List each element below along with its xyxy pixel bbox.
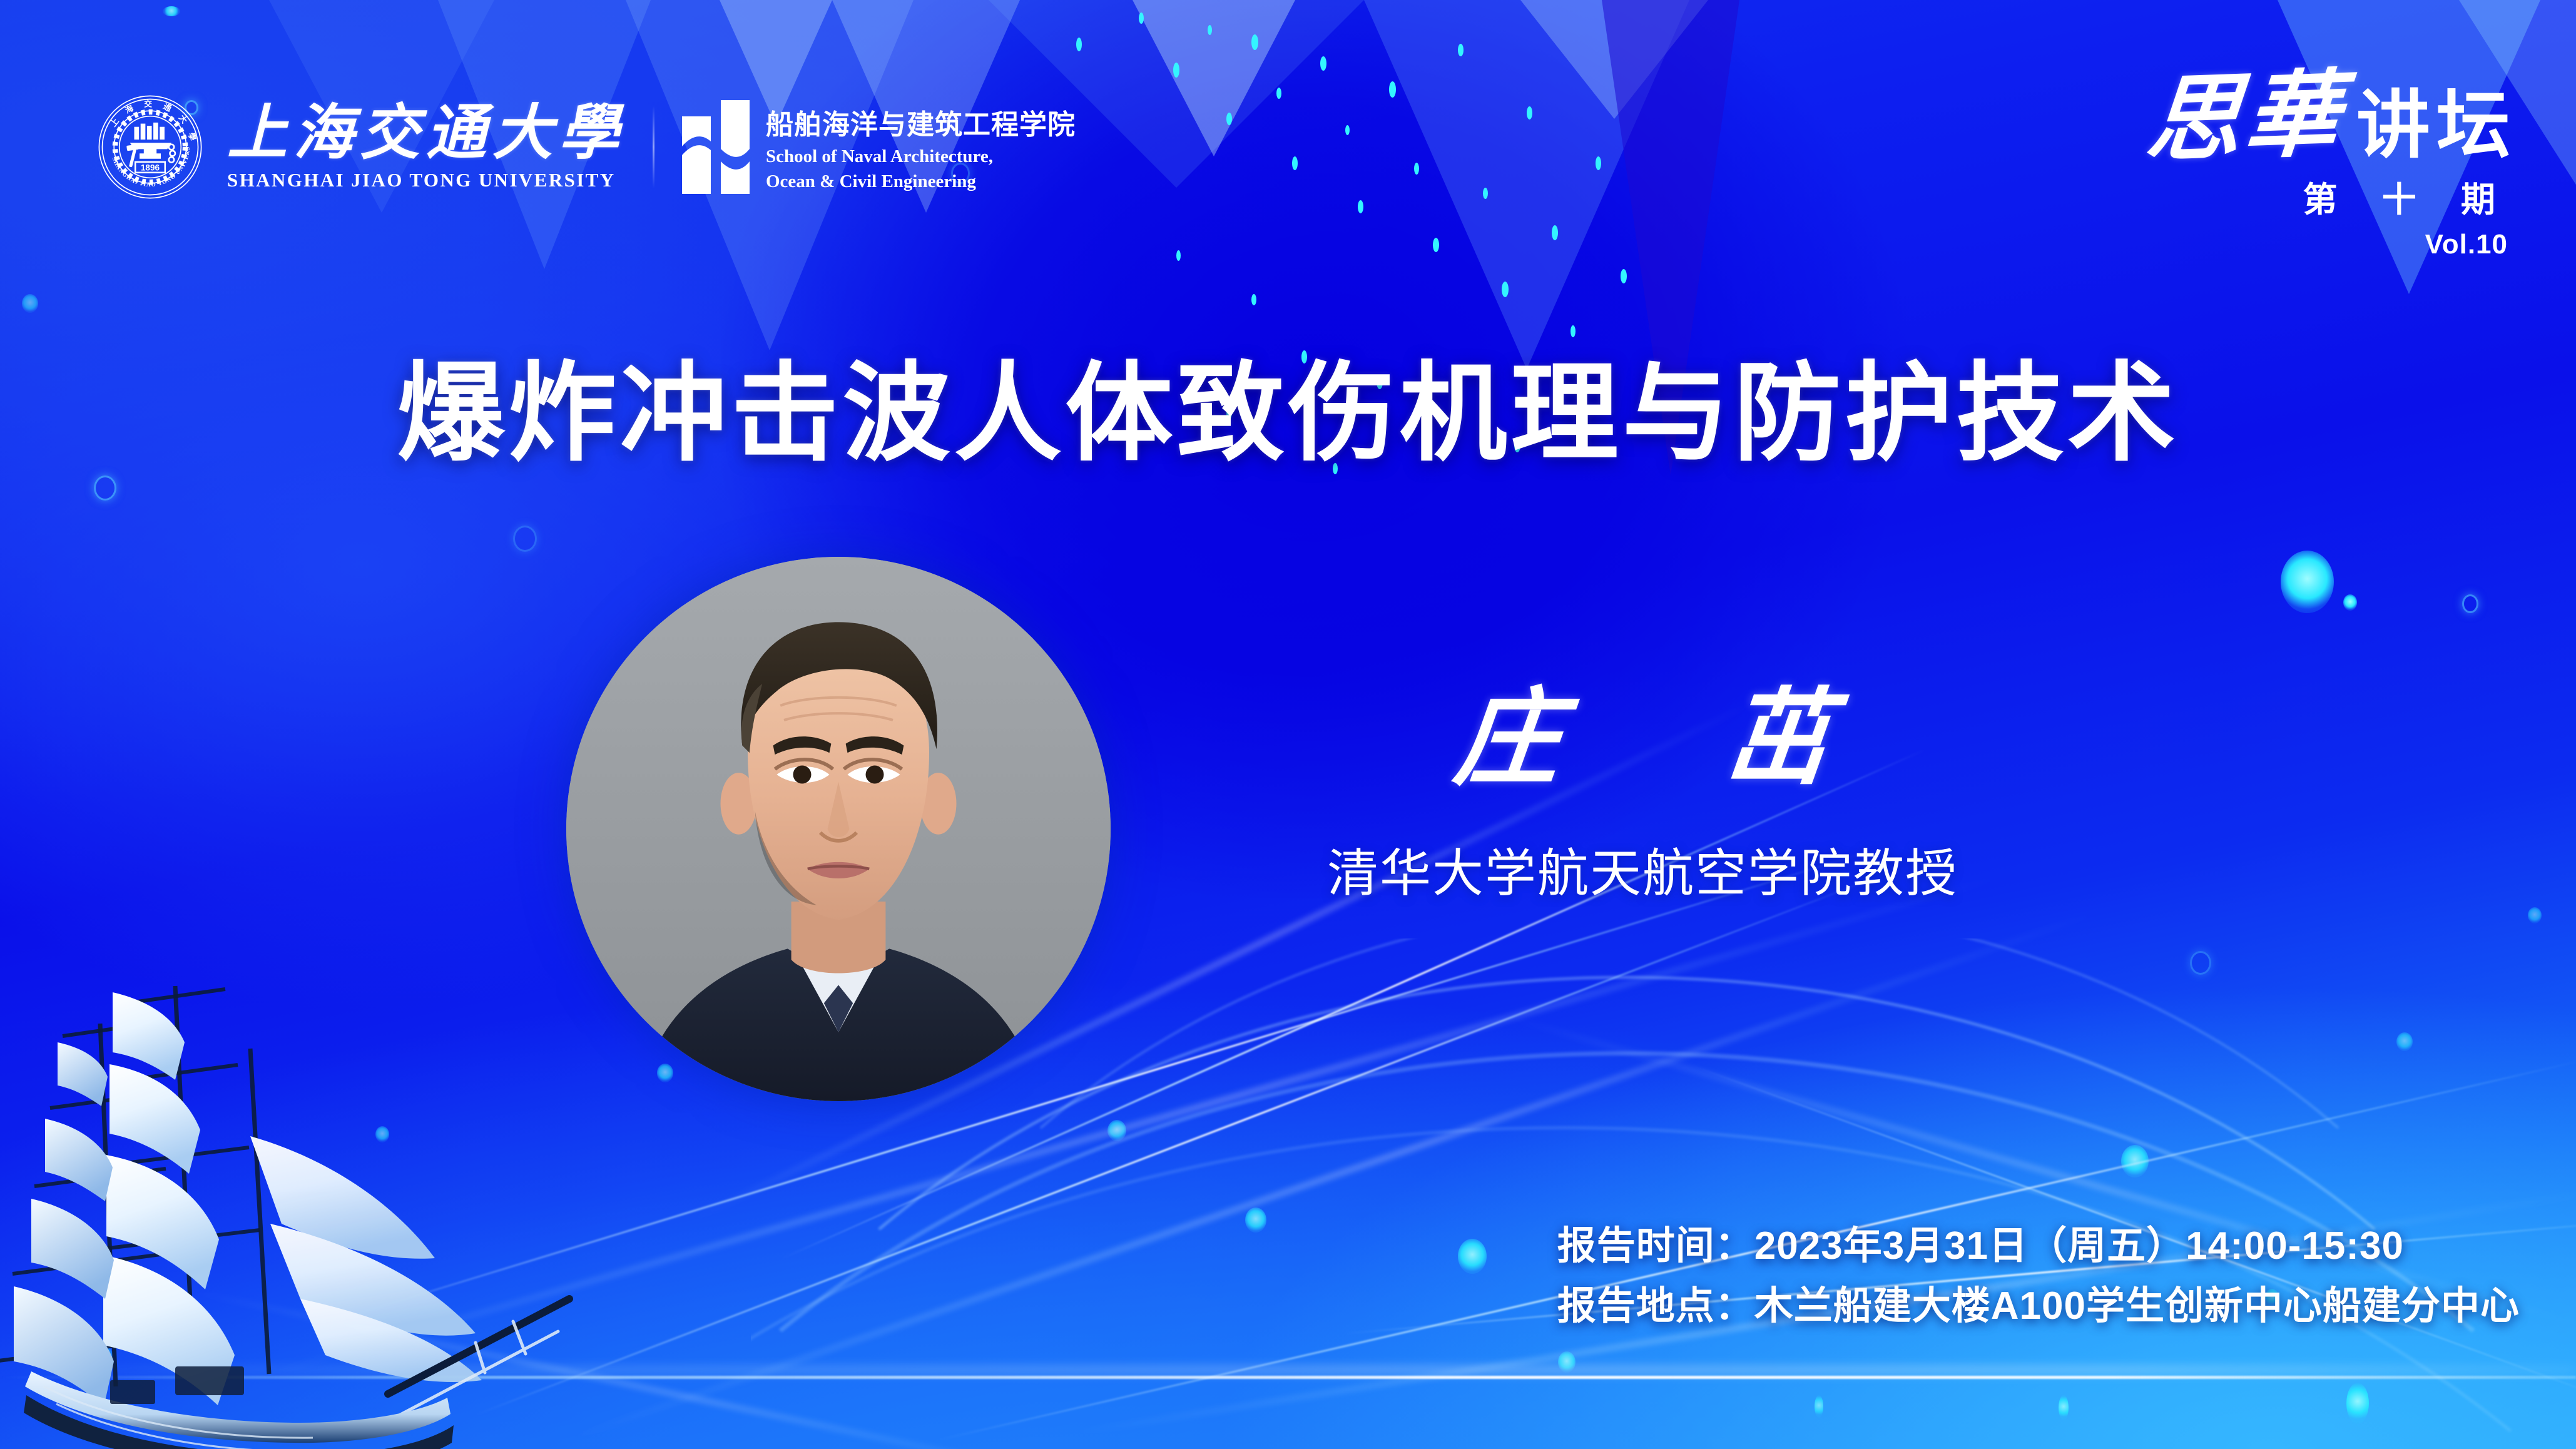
speaker-block: 庄 茁 清华大学航天航空学院教授	[1226, 682, 2059, 906]
school-name-en-line1: School of Naval Architecture,	[766, 146, 1076, 167]
forum-brand: 思華 讲坛 第 十 期 Vol.10	[2147, 75, 2517, 260]
event-info: 报告时间：2023年3月31日（周五）14:00-15:30 报告地点：木兰船建…	[1557, 1216, 2520, 1336]
event-location: 报告地点：木兰船建大楼A100学生创新中心船建分中心	[1557, 1276, 2520, 1336]
poster-canvas: 1896 上 海 交 通 大 學 SHANGHAI JIAO TONG UNIV…	[0, 0, 2576, 1449]
logo-divider	[653, 106, 654, 188]
event-time: 报告时间：2023年3月31日（周五）14:00-15:30	[1557, 1216, 2520, 1276]
school-mark-icon	[682, 100, 750, 194]
forum-word: 讲坛	[2356, 91, 2517, 161]
speaker-avatar	[566, 557, 1111, 1101]
university-name-en: SHANGHAI JIAO TONG UNIVERSITY	[227, 169, 625, 191]
speaker-affiliation: 清华大学航天航空学院教授	[1226, 831, 2059, 906]
page-title: 爆炸冲击波人体致伤机理与防护技术	[0, 325, 2576, 482]
svg-text:1896: 1896	[141, 163, 160, 172]
header-logos: 1896 上 海 交 通 大 學 SHANGHAI JIAO TONG UNIV…	[97, 94, 1076, 200]
forum-issue-number: 第 十 期	[2147, 171, 2517, 221]
forum-volume: Vol.10	[2147, 229, 2517, 260]
school-name-cn: 船舶海洋与建筑工程学院	[766, 102, 1076, 142]
sailing-ship-illustration	[0, 948, 601, 1449]
school-name-en-line2: Ocean & Civil Engineering	[766, 171, 1076, 192]
forum-calligraphy: 思華	[2143, 72, 2346, 165]
speaker-name: 庄 茁	[1220, 682, 2064, 798]
sjtu-seal-icon: 1896 上 海 交 通 大 學 SHANGHAI JIAO TONG UNIV…	[97, 94, 203, 200]
university-name-cn: 上海交通大學	[227, 103, 625, 164]
